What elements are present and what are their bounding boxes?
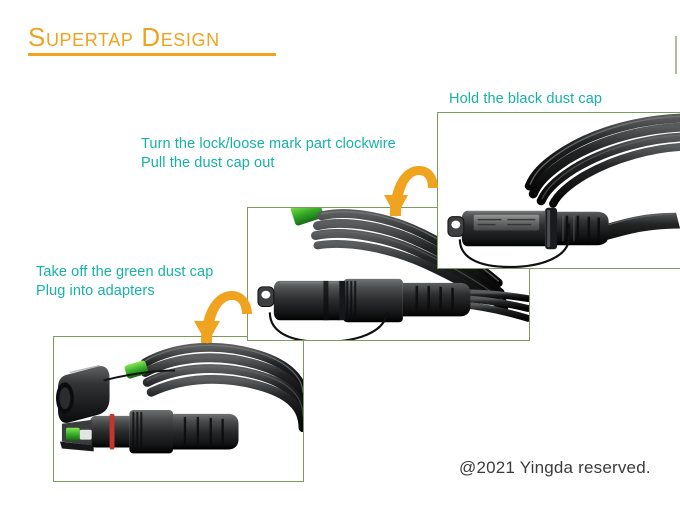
connector-with-dust-cap-illustration xyxy=(438,113,680,268)
lanyard-eyelet xyxy=(258,287,274,307)
caption-hold-black-dust-cap: Hold the black dust cap xyxy=(449,90,602,109)
coupling-ring xyxy=(545,208,557,249)
curved-arrow-icon-bottom xyxy=(193,283,253,345)
footer-copyright: @2021 Yingda reserved. xyxy=(459,458,651,478)
caption-turn-and-pull: Turn the lock/loose mark part clockwire … xyxy=(141,135,396,173)
coupling-nut xyxy=(129,410,173,453)
lanyard-eyelet xyxy=(448,217,464,237)
page-title: Supertap Design xyxy=(28,24,448,51)
photo-panel-hold-black-dust-cap xyxy=(437,112,680,269)
curved-arrow-icon-top xyxy=(383,158,439,218)
title-underline-rule xyxy=(28,53,276,56)
strain-relief-boot xyxy=(171,414,238,450)
strain-relief-boot xyxy=(403,283,471,316)
connector-barrel xyxy=(274,281,340,320)
green-apc-connector-head xyxy=(60,420,94,452)
photo-panel-take-off-green-cap xyxy=(53,336,304,482)
slide-canvas: Supertap Design Hold the black dust cap … xyxy=(0,0,680,510)
curved-arrow-top-svg xyxy=(383,158,439,218)
coupling-nut xyxy=(343,279,403,322)
right-edge-rule xyxy=(675,36,677,74)
title-block: Supertap Design xyxy=(28,24,448,56)
curved-arrow-bottom-svg xyxy=(193,283,253,345)
removed-cap-and-green-connector-illustration xyxy=(54,337,303,481)
connector-label-plate xyxy=(474,215,539,231)
caption-take-off-green-cap: Take off the green dust cap Plug into ad… xyxy=(36,263,213,301)
red-o-ring xyxy=(110,414,115,450)
